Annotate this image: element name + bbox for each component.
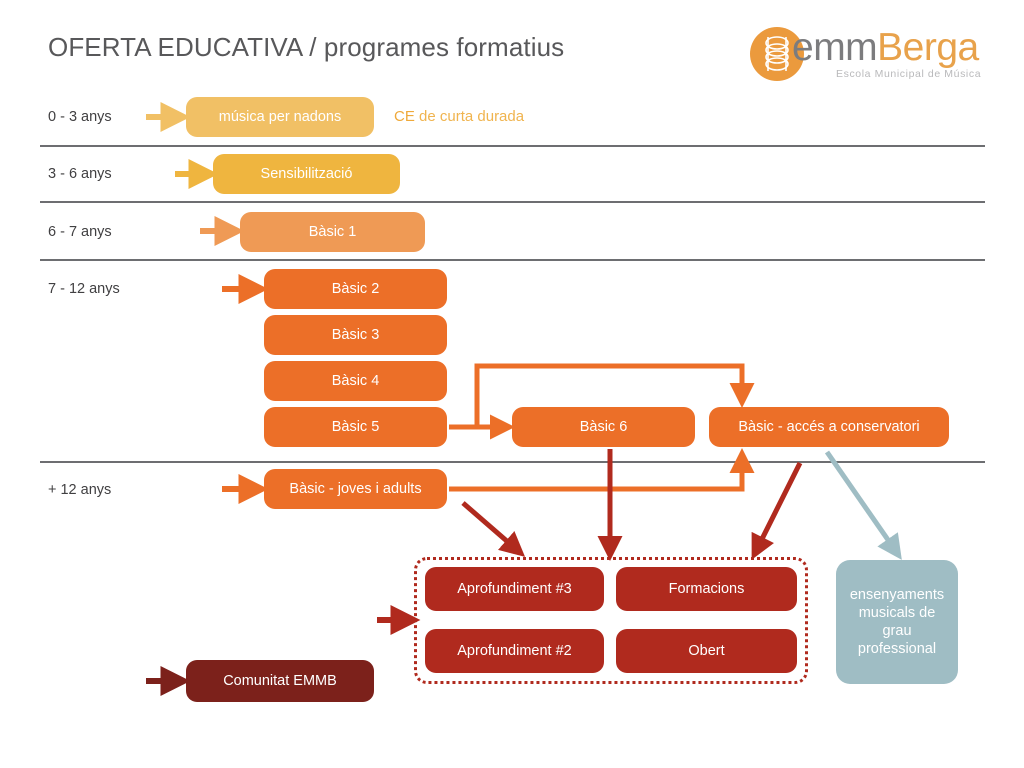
connector-joves-to-advanced (463, 503, 516, 549)
connector-joves-to-conservatori (449, 460, 742, 489)
connector-conservatori-to-professional (827, 452, 895, 550)
connector-basic5-to-conservatori (477, 366, 742, 427)
connector-layer (0, 0, 1024, 768)
connector-conservatori-to-advanced (757, 463, 800, 549)
diagram-canvas: OFERTA EDUCATIVA / programes formatius e… (0, 0, 1024, 768)
